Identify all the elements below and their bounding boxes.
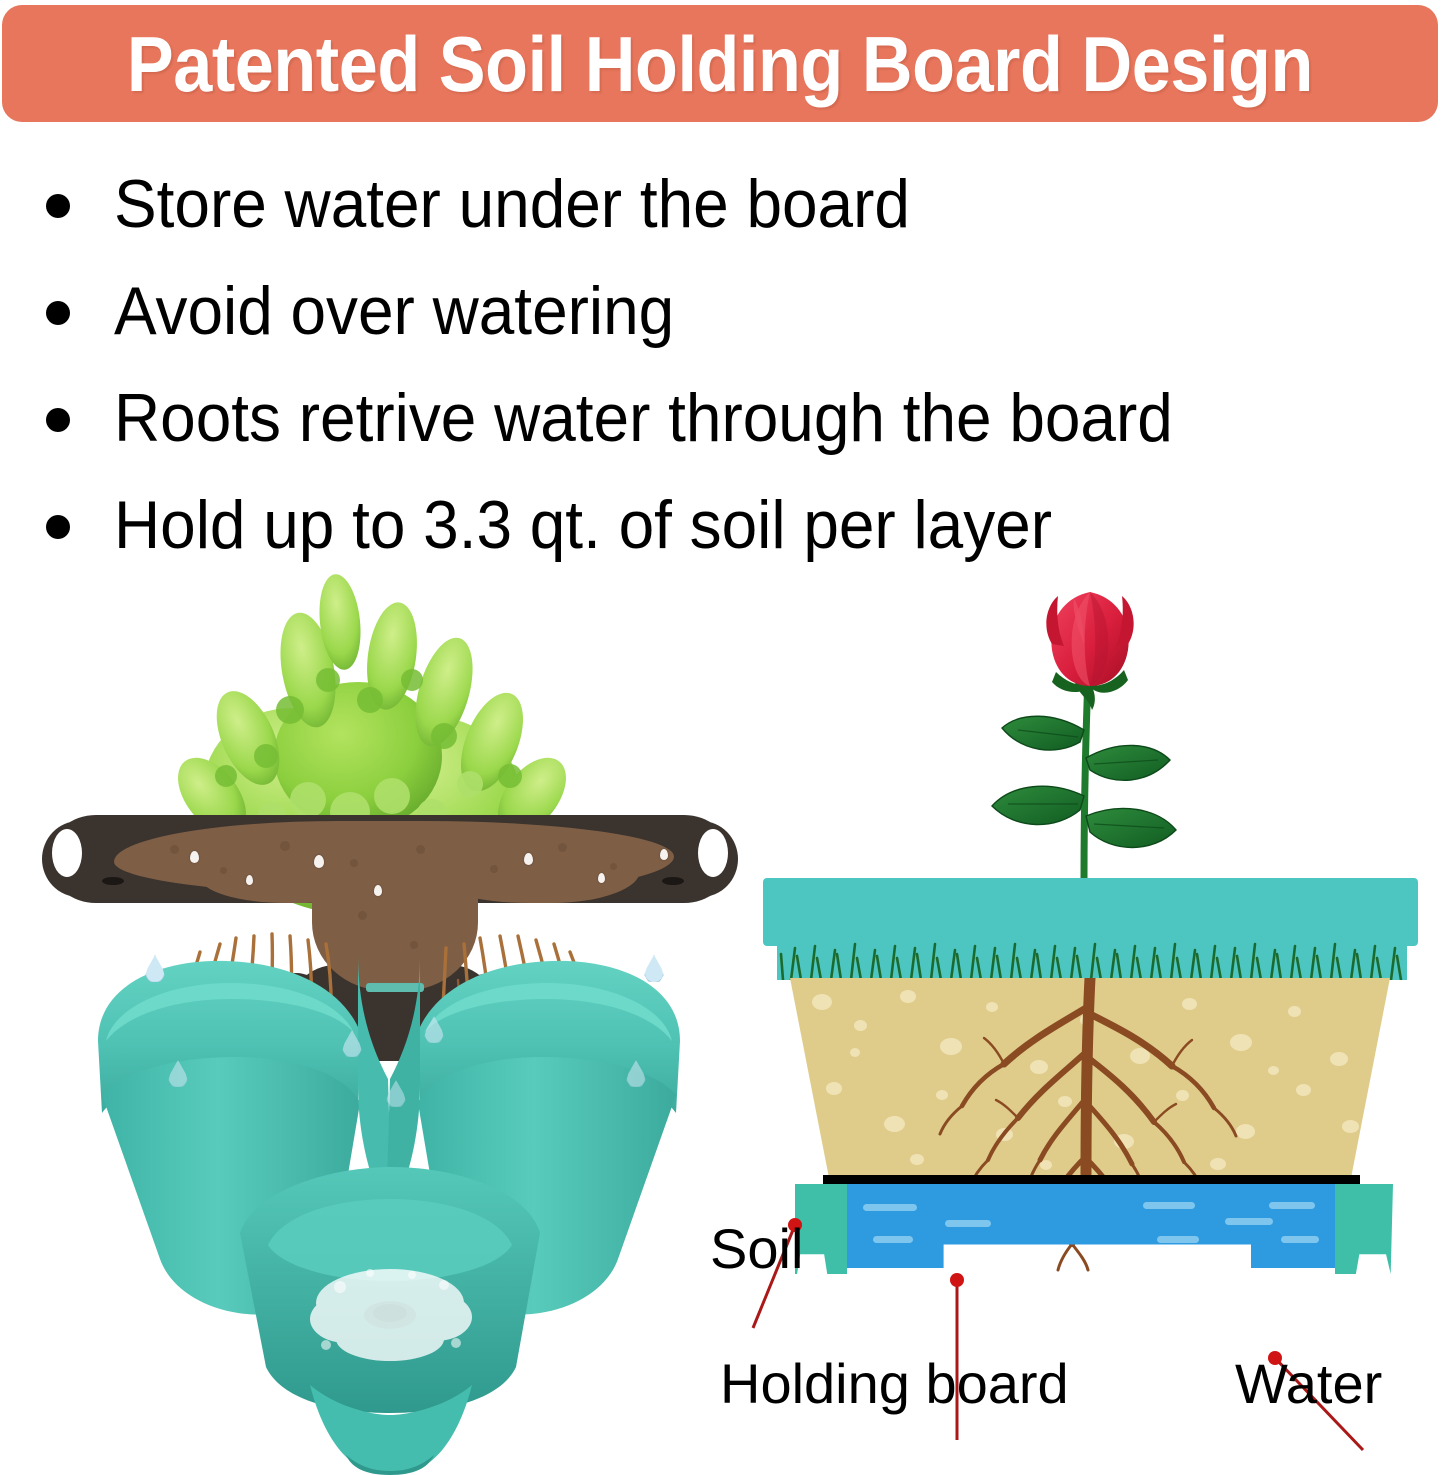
bullet-icon	[46, 408, 70, 432]
header-banner: Patented Soil Holding Board Design	[2, 5, 1438, 122]
water-droplet	[314, 855, 324, 868]
stacked-planter-photo	[40, 560, 740, 1415]
water-droplet	[524, 853, 533, 865]
bullet-icon	[46, 301, 70, 325]
board-hole	[662, 877, 684, 885]
soil-speckle	[280, 841, 290, 851]
label-water: Water	[1235, 1355, 1382, 1413]
soil-speckle	[416, 845, 425, 854]
bullet-icon	[46, 515, 70, 539]
feature-item: Store water under the board	[46, 152, 1406, 259]
board-hole	[102, 877, 124, 885]
teal-planter-icon	[40, 915, 740, 1475]
board-notch-right	[698, 829, 728, 877]
water-droplet	[246, 875, 253, 885]
bullet-icon	[46, 194, 70, 218]
feature-label: Store water under the board	[114, 152, 910, 256]
soil-speckle	[220, 867, 227, 874]
pot-cross-section-diagram: Soil Holding board Water	[735, 560, 1435, 1415]
feature-item: Avoid over watering	[46, 259, 1406, 366]
feature-label: Roots retrive water through the board	[114, 366, 1173, 470]
soil-layer	[430, 841, 640, 903]
feature-list: Store water under the board Avoid over w…	[46, 152, 1406, 580]
water-droplet	[598, 873, 605, 883]
soil-layer	[200, 845, 380, 903]
soil-speckle	[558, 843, 567, 852]
soil-speckle	[170, 845, 179, 854]
water-droplet	[660, 849, 668, 860]
page-title: Patented Soil Holding Board Design	[127, 25, 1313, 103]
soil-speckle	[610, 863, 617, 870]
callout-leader-lines	[735, 660, 1435, 1420]
illustration-area: Soil Holding board Water	[0, 560, 1445, 1415]
feature-item: Roots retrive water through the board	[46, 366, 1406, 473]
feature-label: Avoid over watering	[114, 259, 674, 363]
soil-speckle	[350, 859, 358, 867]
label-holding-board: Holding board	[720, 1355, 1069, 1413]
board-notch-left	[52, 829, 82, 877]
water-droplet	[190, 851, 199, 863]
soil-speckle	[490, 865, 498, 873]
label-soil: Soil	[710, 1220, 803, 1278]
water-droplet	[374, 885, 382, 896]
